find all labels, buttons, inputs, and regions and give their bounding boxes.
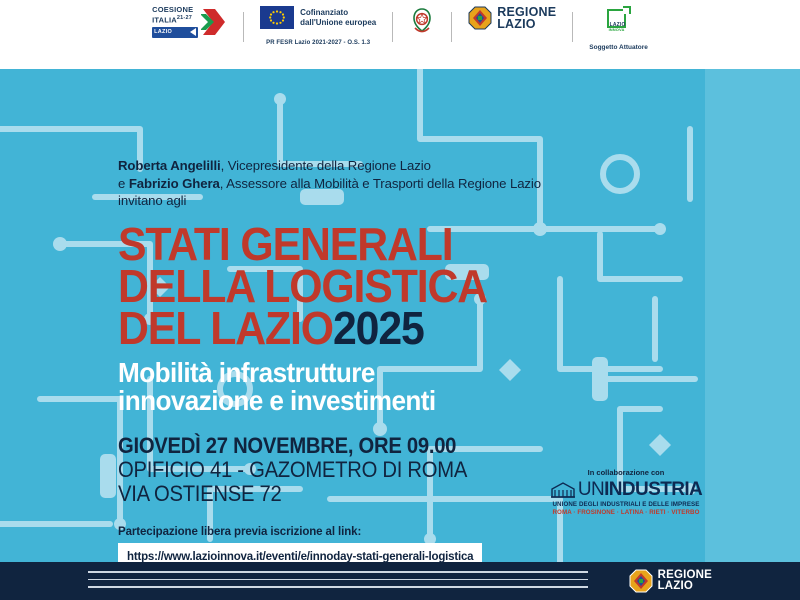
- lazio-innova-word2: INNOVA: [609, 27, 625, 32]
- collaboration-label: In collaborazione con: [536, 468, 716, 477]
- unindustria-mark-icon: [550, 481, 576, 499]
- title-year: 2025: [333, 302, 424, 354]
- footer-brand-line2: LAZIO: [658, 581, 712, 593]
- host-2-prefix: e: [118, 176, 129, 191]
- host-1-role: , Vicepresidente della Regione Lazio: [221, 158, 431, 173]
- unindustria-part2: INDUSTRIA: [604, 479, 702, 500]
- title-line-1: STATI GENERALI: [118, 223, 676, 265]
- footer-decorative-lines: [88, 571, 588, 594]
- unindustria-subtitle: UNIONE DEGLI INDUSTRIALI E DELLE IMPRESE: [536, 501, 716, 508]
- coesione-years: 21-27: [177, 15, 192, 21]
- arrow-left-icon: [190, 28, 196, 36]
- event-date: GIOVEDÌ 27 NOVEMBRE, ORE 09.00: [118, 434, 670, 458]
- coesione-line1: COESIONE: [152, 6, 193, 14]
- logo-coesione-italia: COESIONE ITALIA21-27 LAZIO: [152, 6, 227, 38]
- registration-url: https://www.lazioinnova.it/eventi/e/inno…: [127, 551, 473, 563]
- registration-link[interactable]: https://www.lazioinnova.it/eventi/e/inno…: [118, 543, 482, 563]
- logo-repubblica-italiana: [409, 6, 435, 37]
- eu-flag-icon: [260, 6, 294, 29]
- divider: [572, 12, 573, 42]
- soggetto-attuatore-caption: Soggetto Attuatore: [589, 44, 648, 51]
- poster-footer: REGIONE LAZIO: [0, 562, 800, 600]
- event-subtitle: Mobilità infrastrutture innovazione e in…: [118, 359, 718, 416]
- pr-fesr-note: PR FESR Lazio 2021-2027 - O.S. 1.3: [266, 40, 370, 46]
- eu-line1: Cofinanziato: [300, 8, 376, 18]
- invite-closing: invitano agli: [118, 192, 718, 210]
- panel-right-band: [705, 69, 800, 562]
- regione-lazio-line2: LAZIO: [497, 18, 556, 30]
- registration-label: Partecipazione libera previa iscrizione …: [118, 526, 718, 538]
- invitation-text: Roberta Angelilli, Vicepresidente della …: [118, 157, 718, 210]
- logo-regione-lazio: REGIONE LAZIO: [468, 6, 556, 30]
- coesione-line2: ITALIA: [152, 16, 177, 25]
- eu-line2: dall'Unione europea: [300, 18, 376, 28]
- host-2-name: Fabrizio Ghera: [129, 176, 220, 191]
- event-title: STATI GENERALI DELLA LOGISTICA DEL LAZIO…: [118, 223, 718, 349]
- unindustria-cities: ROMA · FROSINONE · LATINA · RIETI · VITE…: [536, 509, 716, 516]
- title-line-3: DEL LAZIO: [118, 302, 333, 354]
- unindustria-part1: UN: [578, 479, 604, 500]
- host-2-role: , Assessore alla Mobilità e Trasporti de…: [220, 176, 541, 191]
- poster-body: Roberta Angelilli, Vicepresidente della …: [0, 69, 800, 562]
- regione-lazio-mark-icon: [468, 6, 492, 30]
- event-poster: COESIONE ITALIA21-27 LAZIO: [0, 0, 800, 600]
- title-line-2: DELLA LOGISTICA: [118, 265, 676, 307]
- italy-flag-arrow-icon: [201, 7, 227, 37]
- collaboration-block: In collaborazione con UNINDUSTRIA UNIONE…: [536, 468, 716, 516]
- divider: [392, 12, 393, 42]
- divider: [243, 12, 244, 42]
- footer-regione-lazio-logo: REGIONE LAZIO: [629, 569, 712, 593]
- logo-strip: COESIONE ITALIA21-27 LAZIO: [0, 0, 800, 69]
- host-1-name: Roberta Angelilli: [118, 158, 221, 173]
- logo-lazio-innova: LAZIO INNOVA Soggetto Attuatore: [589, 6, 648, 51]
- coesione-region: LAZIO: [154, 29, 172, 35]
- subtitle-line-1: Mobilità infrastrutture: [118, 359, 688, 388]
- logo-eu-cofinanced: Cofinanziato dall'Unione europea PR FESR…: [260, 6, 376, 46]
- subtitle-line-2: innovazione e investimenti: [118, 387, 688, 416]
- republic-emblem-icon: [409, 6, 435, 37]
- lazio-innova-mark-icon: LAZIO INNOVA: [607, 6, 631, 32]
- regione-lazio-mark-icon: [629, 569, 653, 593]
- divider: [451, 12, 452, 42]
- registration-block: Partecipazione libera previa iscrizione …: [118, 526, 718, 563]
